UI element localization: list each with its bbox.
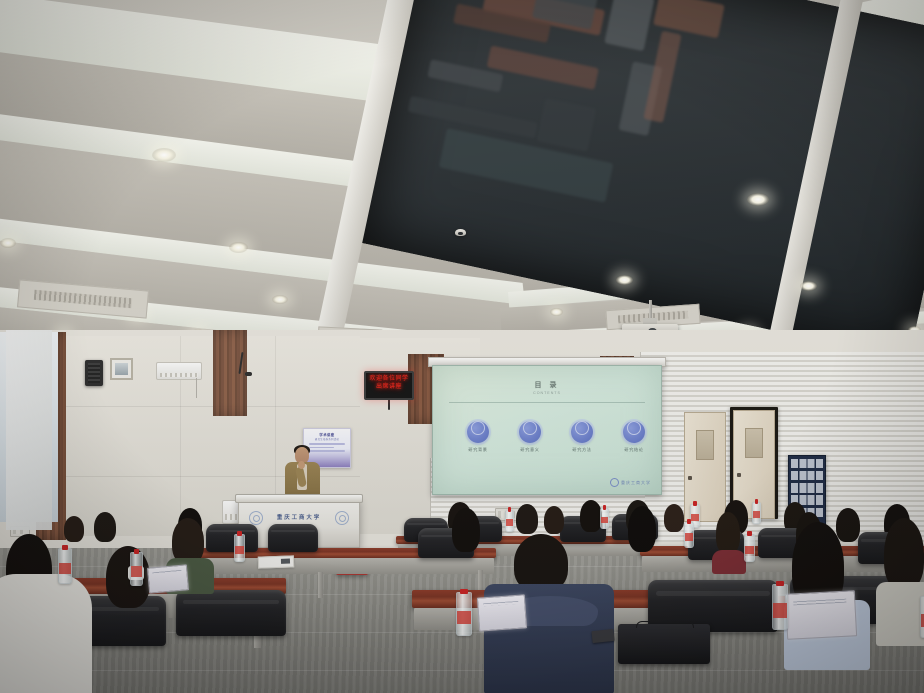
wall-seam	[60, 406, 360, 407]
papers-on-desk[interactable]	[258, 555, 294, 568]
lectern-top	[235, 494, 363, 503]
downlight	[616, 275, 633, 285]
water-bottle[interactable]	[505, 510, 514, 532]
laptop[interactable]	[477, 594, 527, 631]
door-handle	[737, 473, 741, 477]
slide-subtitle: CONTENTS	[433, 391, 661, 395]
water-bottle[interactable]	[752, 502, 761, 524]
presenter-hand	[298, 461, 305, 469]
water-bottle[interactable]	[130, 552, 143, 586]
door-handle[interactable]	[688, 476, 692, 480]
slide-node-2: 研究意义	[509, 416, 551, 453]
water-bottle[interactable]	[600, 508, 609, 529]
slide-divider	[449, 402, 645, 403]
door-vision-panel	[696, 430, 714, 460]
chair[interactable]	[176, 590, 286, 636]
slide-node-1: 研究背景	[457, 416, 499, 453]
slide-node-label: 研究意义	[509, 447, 551, 453]
downlight	[272, 295, 288, 304]
slide-logo-text: 重庆工商大学	[621, 480, 651, 486]
door-vision-panel	[745, 428, 763, 458]
slide-node-label: 研究结论	[613, 447, 655, 453]
downlight	[152, 148, 176, 162]
wall-picture-frame	[110, 358, 133, 380]
lecture-hall-photo: 欢迎各位同学 出席讲座 目 录 CONTENTS 研究背景 研究意义 研究方法 …	[0, 0, 924, 693]
chair[interactable]	[268, 524, 318, 552]
desk-leg	[318, 572, 323, 598]
water-bottle[interactable]	[234, 534, 245, 562]
chair[interactable]	[206, 524, 258, 552]
poster-line	[309, 443, 345, 445]
slide-node-label: 研究背景	[457, 447, 499, 453]
water-bottle[interactable]	[744, 534, 755, 562]
water-bottle[interactable]	[920, 596, 924, 638]
slide-university-logo: 重庆工商大学	[610, 478, 651, 487]
downlight	[800, 281, 817, 291]
slide-node-label: 研究方法	[561, 447, 603, 453]
downlight	[229, 242, 248, 253]
downlight	[747, 193, 769, 206]
water-bottle[interactable]	[456, 592, 472, 636]
slide-node-4: 研究结论	[613, 416, 655, 453]
downlight	[0, 238, 16, 248]
ceiling-microphone	[245, 372, 252, 376]
window-curtain	[6, 330, 52, 530]
poster-subtitle: 研究生培养系列活动	[304, 437, 350, 441]
slide-node-circle	[623, 421, 645, 443]
projection-screen: 目 录 CONTENTS 研究背景 研究意义 研究方法 研究结论 重庆工商大学	[432, 365, 662, 495]
ac-cable	[196, 378, 197, 398]
wall-speaker	[85, 360, 103, 386]
university-seal-icon	[610, 478, 619, 487]
slide-node-circle	[519, 421, 541, 443]
backpack[interactable]	[618, 624, 710, 664]
downlight	[550, 308, 563, 316]
laptop[interactable]	[147, 564, 189, 593]
led-sign-line-2: 出席讲座	[366, 383, 412, 391]
slide-title: 目 录	[433, 380, 661, 390]
dome-camera-icon	[455, 229, 466, 236]
led-marquee-sign: 欢迎各位同学 出席讲座	[364, 371, 414, 400]
slide-node-circle	[467, 421, 489, 443]
slide-node-circle	[571, 421, 593, 443]
led-sign-line-1: 欢迎各位同学	[366, 375, 412, 383]
water-bottle[interactable]	[58, 548, 72, 584]
wall-wood-trim	[213, 330, 247, 416]
slide-node-3: 研究方法	[561, 416, 603, 453]
lectern-university-label: 重庆工商大学	[239, 513, 359, 521]
smartphone[interactable]	[591, 629, 614, 643]
water-bottle[interactable]	[772, 584, 788, 630]
water-bottle[interactable]	[684, 522, 694, 548]
laptop[interactable]	[785, 590, 857, 640]
